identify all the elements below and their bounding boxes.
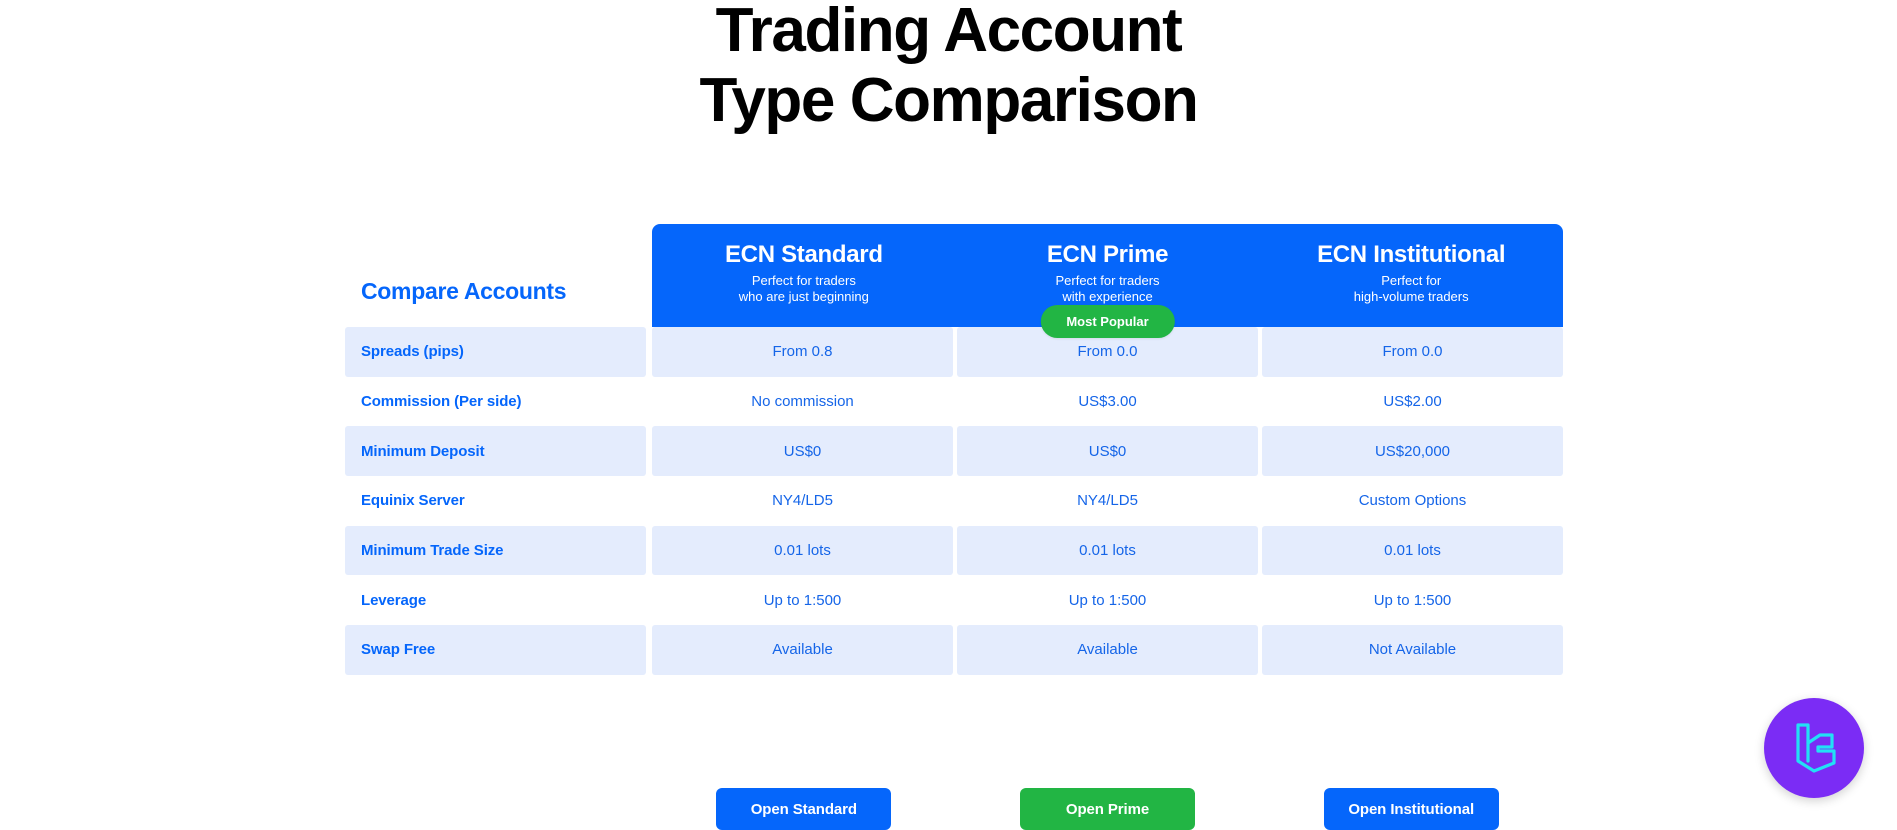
row-value-col-1: From 0.8 — [652, 327, 953, 377]
plan-name: ECN Prime — [1047, 241, 1168, 269]
brand-logo-icon — [1784, 717, 1844, 779]
row-value-col-1: Up to 1:500 — [652, 575, 953, 625]
table-row: LeverageUp to 1:500Up to 1:500Up to 1:50… — [345, 575, 1563, 625]
row-value-col-1: NY4/LD5 — [652, 476, 953, 526]
open-account-button-1[interactable]: Open Standard — [716, 788, 891, 830]
cta-slot-1: Open Standard — [652, 788, 956, 830]
row-value-col-2: NY4/LD5 — [957, 476, 1258, 526]
cta-slot-2: Open Prime — [956, 788, 1260, 830]
cta-slot-3: Open Institutional — [1259, 788, 1563, 830]
cta-button-row: Open StandardOpen PrimeOpen Institutiona… — [652, 788, 1563, 830]
row-value-col-3: US$20,000 — [1262, 426, 1563, 476]
row-label: Swap Free — [345, 625, 646, 675]
plan-subtitle: Perfect for traders — [1055, 273, 1159, 289]
row-value-col-3: Custom Options — [1262, 476, 1563, 526]
table-row: Swap FreeAvailableAvailableNot Available — [345, 625, 1563, 675]
row-value-col-2: Up to 1:500 — [957, 575, 1258, 625]
plan-subtitle-second-line: who are just beginning — [739, 289, 869, 305]
comparison-page: Trading Account Type Comparison Compare … — [0, 0, 1897, 830]
page-title-line-2: Type Comparison — [0, 66, 1897, 136]
row-label: Equinix Server — [345, 476, 646, 526]
row-value-col-1: Available — [652, 625, 953, 675]
row-label: Leverage — [345, 575, 646, 625]
table-row: Commission (Per side)No commissionUS$3.0… — [345, 377, 1563, 427]
table-row: Minimum Trade Size0.01 lots0.01 lots0.01… — [345, 526, 1563, 576]
open-account-button-3[interactable]: Open Institutional — [1324, 788, 1499, 830]
plan-name: ECN Institutional — [1317, 241, 1505, 269]
row-value-col-2: Available — [957, 625, 1258, 675]
row-label: Spreads (pips) — [345, 327, 646, 377]
plan-name: ECN Standard — [725, 241, 883, 269]
page-title: Trading Account Type Comparison — [0, 0, 1897, 136]
row-value-col-3: From 0.0 — [1262, 327, 1563, 377]
most-popular-badge: Most Popular — [1040, 305, 1174, 338]
plan-subtitle: Perfect for — [1381, 273, 1441, 289]
table-row: Minimum DepositUS$0US$0US$20,000 — [345, 426, 1563, 476]
plan-header-2: ECN PrimePerfect for traderswith experie… — [956, 224, 1260, 327]
table-row: Spreads (pips)From 0.8From 0.0From 0.0 — [345, 327, 1563, 377]
plan-subtitle-second-line: high-volume traders — [1354, 289, 1469, 305]
row-value-col-3: 0.01 lots — [1262, 526, 1563, 576]
brand-logo-badge[interactable] — [1764, 698, 1864, 798]
row-value-col-1: No commission — [652, 377, 953, 427]
row-value-col-1: 0.01 lots — [652, 526, 953, 576]
row-value-col-2: 0.01 lots — [957, 526, 1258, 576]
row-label: Commission (Per side) — [345, 377, 646, 427]
plan-header-1: ECN StandardPerfect for traderswho are j… — [652, 224, 956, 327]
row-value-col-3: Not Available — [1262, 625, 1563, 675]
table-row: Equinix ServerNY4/LD5NY4/LD5Custom Optio… — [345, 476, 1563, 526]
page-title-line-1: Trading Account — [0, 0, 1897, 66]
plan-header-row: ECN StandardPerfect for traderswho are j… — [652, 224, 1563, 327]
open-account-button-2[interactable]: Open Prime — [1020, 788, 1195, 830]
table-body: Spreads (pips)From 0.8From 0.0From 0.0Co… — [345, 327, 1563, 675]
plan-subtitle: Perfect for traders — [752, 273, 856, 289]
row-value-col-2: US$3.00 — [957, 377, 1258, 427]
row-label: Minimum Trade Size — [345, 526, 646, 576]
row-value-col-3: Up to 1:500 — [1262, 575, 1563, 625]
row-label: Minimum Deposit — [345, 426, 646, 476]
row-value-col-2: US$0 — [957, 426, 1258, 476]
plan-subtitle-second-line: with experience — [1062, 289, 1152, 305]
plan-header-3: ECN InstitutionalPerfect forhigh-volume … — [1259, 224, 1563, 327]
row-value-col-3: US$2.00 — [1262, 377, 1563, 427]
row-value-col-1: US$0 — [652, 426, 953, 476]
